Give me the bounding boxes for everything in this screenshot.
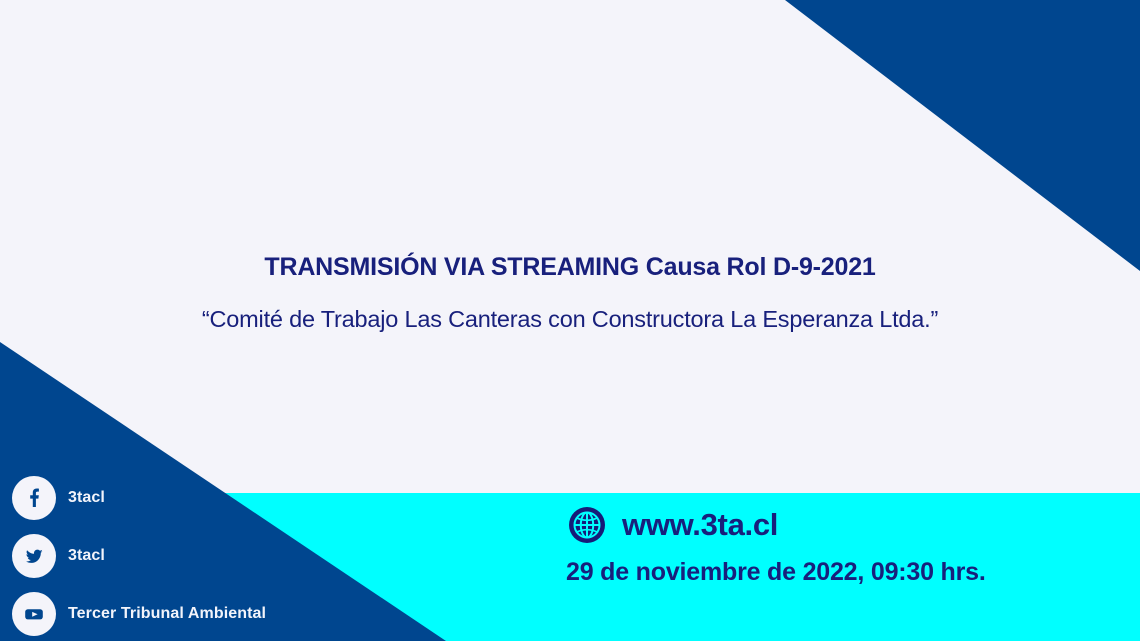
social-link-youtube[interactable]: Tercer Tribunal Ambiental <box>12 592 266 636</box>
youtube-icon[interactable] <box>12 592 56 636</box>
website-row[interactable]: www.3ta.cl <box>566 504 986 546</box>
page-title: TRANSMISIÓN VIA STREAMING Causa Rol D-9-… <box>0 252 1140 282</box>
social-label-twitter: 3tacl <box>68 547 105 565</box>
headline-block: TRANSMISIÓN VIA STREAMING Causa Rol D-9-… <box>0 252 1140 333</box>
website-date-block: www.3ta.cl 29 de noviembre de 2022, 09:3… <box>566 504 986 587</box>
twitter-icon[interactable] <box>12 534 56 578</box>
streaming-announcement-slide: TRANSMISIÓN VIA STREAMING Causa Rol D-9-… <box>0 0 1140 641</box>
social-link-twitter[interactable]: 3tacl <box>12 534 266 578</box>
website-url[interactable]: www.3ta.cl <box>622 507 778 543</box>
facebook-icon[interactable] <box>12 476 56 520</box>
social-links-list: 3tacl 3tacl Tercer Tribunal Ambiental <box>12 476 266 636</box>
page-subtitle: “Comité de Trabajo Las Canteras con Cons… <box>0 305 1140 333</box>
social-label-youtube: Tercer Tribunal Ambiental <box>68 605 266 623</box>
broadcast-date: 29 de noviembre de 2022, 09:30 hrs. <box>566 558 986 587</box>
social-label-facebook: 3tacl <box>68 489 105 507</box>
social-link-facebook[interactable]: 3tacl <box>12 476 266 520</box>
globe-icon <box>566 504 608 546</box>
